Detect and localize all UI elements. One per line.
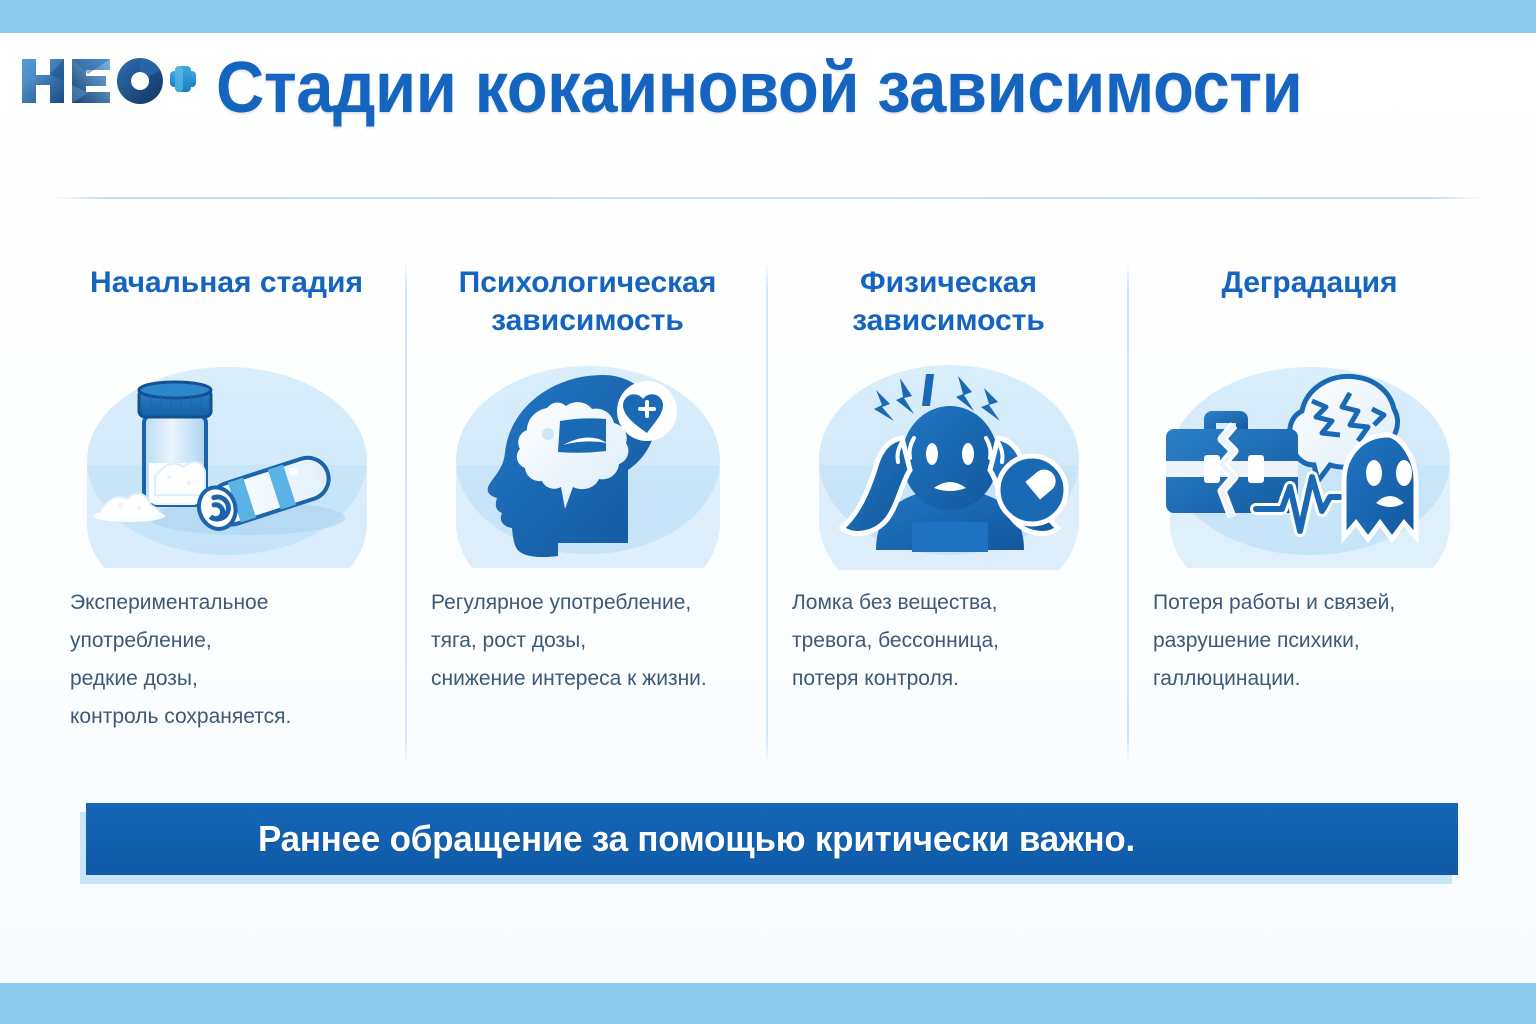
- stage-illustration: [1143, 350, 1476, 570]
- broken-briefcase-brain-ghost-icon: [1160, 353, 1460, 568]
- cta-banner: Раннее обращение за помощью критически в…: [86, 803, 1458, 875]
- logo-letter-n-icon: [22, 59, 64, 103]
- stage-description: Потеря работы и связей, разрушение психи…: [1143, 584, 1476, 698]
- headache-person-pill-icon: [804, 350, 1094, 570]
- stage-illustration: [60, 350, 393, 570]
- stage-description: Экспериментальное употребление, редкие д…: [60, 584, 393, 736]
- stage-heading: Физическая зависимость: [782, 264, 1115, 344]
- stage-description-line: контроль сохраняется.: [70, 698, 393, 736]
- stage-description-line: Потеря работы и связей,: [1153, 584, 1476, 622]
- stage-description-line: редкие дозы,: [70, 660, 393, 698]
- stage-column-psychological: Психологическая зависимость: [407, 250, 768, 770]
- stage-heading: Деградация: [1143, 264, 1476, 344]
- stage-column-physical: Физическая зависимость: [768, 250, 1129, 770]
- stage-heading-line: Начальная: [90, 266, 252, 299]
- stage-heading-line: стадия: [260, 266, 363, 299]
- header: Стадии кокаиновой зависимости: [0, 33, 1536, 198]
- stage-heading-line: Психологическая: [459, 266, 717, 299]
- stage-description: Регулярное употребление, тяга, рост дозы…: [421, 584, 754, 698]
- stage-description: Ломка без вещества, тревога, бессонница,…: [782, 584, 1115, 698]
- stage-illustration: [782, 350, 1115, 570]
- logo-letter-o-icon: [117, 58, 163, 104]
- header-divider: [52, 197, 1484, 199]
- stage-description-line: Регулярное употребление,: [431, 584, 754, 622]
- logo-letter-e-icon: [72, 59, 110, 103]
- stage-description-line: Ломка без вещества,: [792, 584, 1115, 622]
- stage-description-line: тяга, рост дозы,: [431, 622, 754, 660]
- stage-heading-line: Деградация: [1221, 266, 1397, 299]
- bottom-accent-band: [0, 983, 1536, 1024]
- stage-illustration: [421, 350, 754, 570]
- stage-heading-line: зависимость: [491, 304, 684, 337]
- stage-description-line: потеря контроля.: [792, 660, 1115, 698]
- infographic-page: Стадии кокаиновой зависимости Начальная …: [0, 0, 1536, 1024]
- cta-banner-text: Раннее обращение за помощью критически в…: [258, 818, 1135, 860]
- stage-description-line: разрушение психики,: [1153, 622, 1476, 660]
- top-accent-band: [0, 0, 1536, 33]
- stage-heading: Психологическая зависимость: [421, 264, 754, 344]
- brand-logo: [18, 55, 198, 107]
- powder-vial-rolled-bill-icon: [77, 353, 377, 568]
- stage-description-line: тревога, бессонница,: [792, 622, 1115, 660]
- stage-heading-line: зависимость: [852, 304, 1045, 337]
- logo-plus-icon: [170, 66, 196, 92]
- stage-heading: Начальная стадия: [60, 264, 393, 344]
- stage-column-initial: Начальная стадия: [46, 250, 407, 770]
- stage-heading-line: Физическая: [860, 266, 1037, 299]
- stages-row: Начальная стадия: [46, 250, 1490, 770]
- stage-column-degradation: Деградация: [1129, 250, 1490, 770]
- stage-description-line: употребление,: [70, 622, 393, 660]
- stage-description-line: снижение интереса к жизни.: [431, 660, 754, 698]
- page-title: Стадии кокаиновой зависимости: [216, 47, 1397, 129]
- head-brain-heart-icon: [443, 353, 733, 568]
- stage-description-line: Экспериментальное: [70, 584, 393, 622]
- stage-description-line: галлюцинации.: [1153, 660, 1476, 698]
